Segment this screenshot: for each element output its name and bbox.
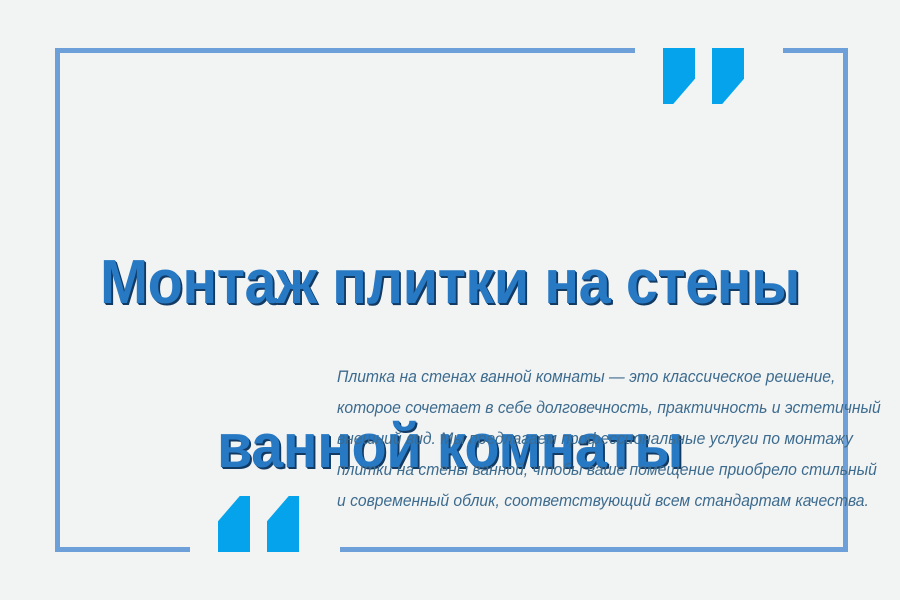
slide-canvas: Монтаж плитки на стены ванной комнаты Пл…	[0, 0, 900, 600]
frame-border-top-segment-1	[55, 48, 635, 53]
body-paragraph-line-2: которое сочетает в себе долговечность, п…	[337, 393, 793, 424]
frame-border-top-segment-2	[783, 48, 848, 53]
quotation-mark-icon-top-right	[712, 48, 744, 104]
body-paragraph-line-5: и современный облик, соответствующий все…	[337, 486, 793, 517]
page-title-line-1: Монтаж плитки на стены	[97, 242, 804, 324]
body-paragraph-line-1: Плитка на стенах ванной комнаты — это кл…	[337, 362, 793, 393]
frame-border-left	[55, 48, 60, 552]
quotation-mark-icon-top-left	[663, 48, 695, 104]
body-paragraph: Плитка на стенах ванной комнаты — это кл…	[337, 362, 793, 517]
body-paragraph-line-4: плитки на стены ванной, чтобы ваше помещ…	[337, 455, 793, 486]
body-paragraph-line-3: внешний вид. Мы предлагаем профессиональ…	[337, 424, 793, 455]
